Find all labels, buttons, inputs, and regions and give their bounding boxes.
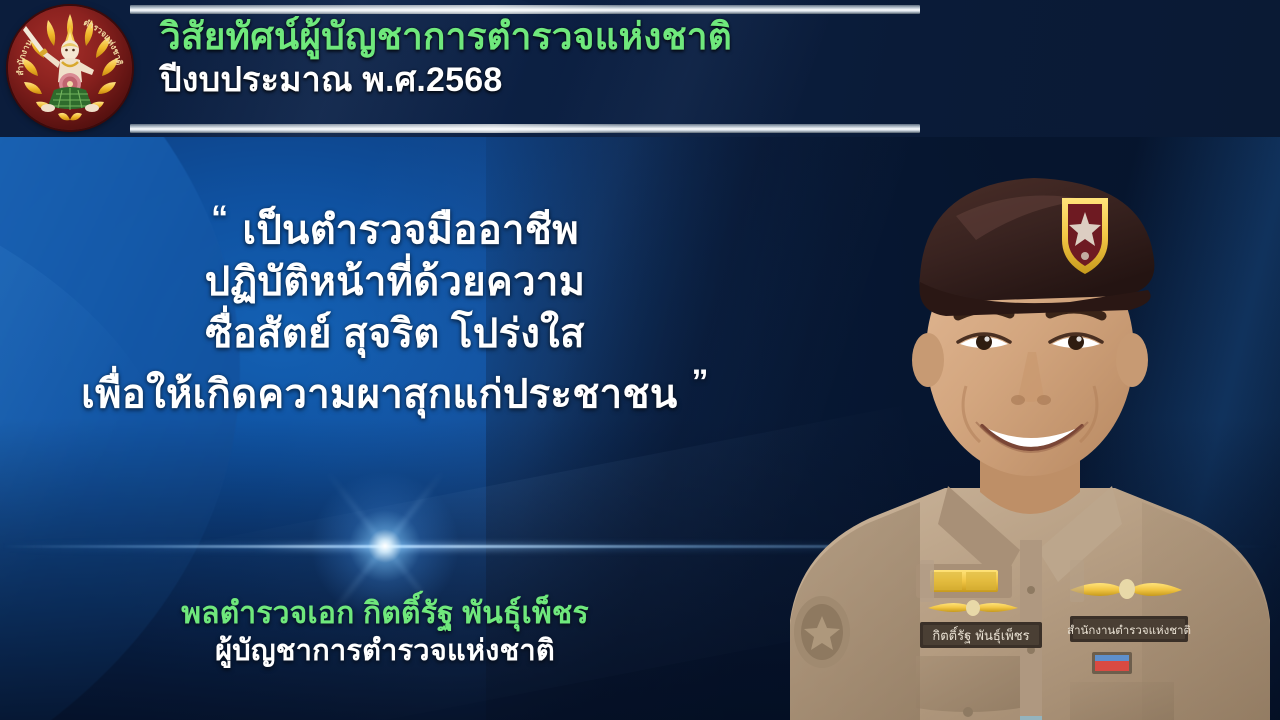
royal-thai-police-emblem-icon: สำนักงาน ตำรวจแห่งชาติ [8, 6, 132, 130]
page-subtitle: ปีงบประมาณ พ.ศ.2568 [160, 61, 732, 99]
quote-close-mark: ” [692, 363, 709, 401]
background-bottom-shade [0, 418, 1280, 720]
quote-line-3: ซื่อสัตย์ สุจริต โปร่งใส [0, 308, 790, 360]
page-title: วิสัยทัศน์ผู้บัญชาการตำรวจแห่งชาติ [160, 16, 732, 57]
commissioner-name: พลตำรวจเอก กิตติ์รัฐ พันธุ์เพ็ชร [0, 594, 770, 633]
header-title-group: วิสัยทัศน์ผู้บัญชาการตำรวจแห่งชาติ ปีงบป… [160, 16, 732, 100]
commissioner-role: ผู้บัญชาการตำรวจแห่งชาติ [0, 633, 770, 671]
quote-line-1: “เป็นตำรวจมืออาชีพ [0, 196, 790, 256]
attribution-block: พลตำรวจเอก กิตติ์รัฐ พันธุ์เพ็ชร ผู้บัญช… [0, 594, 770, 671]
header-divider-bottom [130, 124, 920, 133]
header-divider-top [130, 5, 920, 14]
quote-open-mark: “ [211, 199, 228, 237]
banner-header: สำนักงาน ตำรวจแห่งชาติ วิสัยทัศน์ผู้บัญช… [0, 0, 1280, 137]
quote-line-1-text: เป็นตำรวจมืออาชีพ [242, 208, 579, 252]
quote-line-2: ปฏิบัติหน้าที่ด้วยความ [0, 256, 790, 308]
quote-line-4: เพื่อให้เกิดความผาสุกแก่ประชาชน” [0, 360, 790, 420]
vision-quote: “เป็นตำรวจมืออาชีพ ปฏิบัติหน้าที่ด้วยควา… [0, 196, 790, 421]
quote-line-4-text: เพื่อให้เกิดความผาสุกแก่ประชาชน [81, 373, 677, 417]
vision-banner: กิตติ์รัฐ พันธุ์เพ็ชร สำนักงานตำรวจแห่งช… [0, 0, 1280, 720]
